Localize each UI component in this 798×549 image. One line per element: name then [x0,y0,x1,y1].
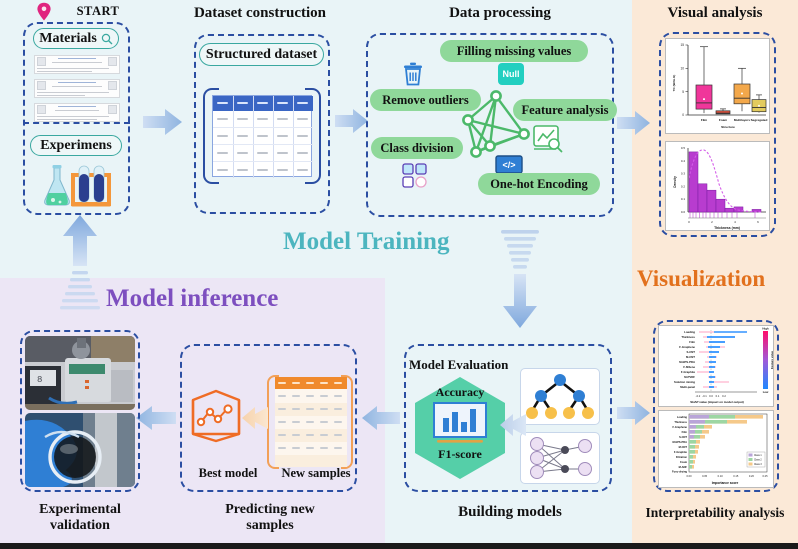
svg-text:Segregated: Segregated [751,118,768,122]
svg-text:Thickness (mm): Thickness (mm) [714,226,740,230]
experimental-validation-caption: Experimental validation [18,502,142,533]
svg-text:0.1: 0.1 [681,197,686,201]
pill-label: Feature analysis [522,103,609,118]
pill-remove-outliers[interactable]: Remove outliers [370,89,481,111]
svg-text:TC (W/m.K): TC (W/m.K) [672,75,676,92]
magnifier-icon [101,33,113,45]
svg-text:Foam: Foam [680,460,688,464]
svg-text:Multilayers: Multilayers [734,118,750,122]
pill-one-hot-encoding[interactable]: One-hot Encoding [478,173,600,195]
svg-text:0.15: 0.15 [733,474,739,478]
new-samples-table [275,377,347,467]
svg-text:F-Graphite: F-Graphite [674,450,688,454]
pill-label: Filling missing values [457,44,572,59]
arrow-samples-to-model [242,405,268,431]
arrow-models-to-evaluation [500,412,526,438]
svg-text:15: 15 [680,43,684,47]
svg-text:0.20: 0.20 [749,474,755,478]
svg-text:M-PVDF: M-PVDF [684,375,695,379]
pill-filling-missing-values[interactable]: Filling missing values [440,40,588,62]
structured-dataset-label: Structured dataset [206,47,317,63]
shap-beeswarm-plot: LoadingThickness FilmF-Graphene S-CNTM-C… [658,325,774,407]
chart-search-icon [533,125,563,153]
flask-test-tube-icon [38,160,114,210]
svg-text:SHAP value (impact on model ou: SHAP value (impact on model output) [690,400,744,404]
stage-word-inference: Model inference [106,285,278,313]
svg-text:Loading: Loading [677,415,688,419]
svg-text:5: 5 [682,90,684,94]
svg-text:M-EPS-PDA: M-EPS-PDA [679,360,695,364]
svg-text:Solution mixing: Solution mixing [674,380,695,384]
svg-text:0.00: 0.00 [686,474,692,478]
instrument-photo: 8 [25,336,135,410]
materials-label: Materials [39,31,97,47]
svg-text:0.1: 0.1 [716,394,720,398]
svg-text:F-Graphene: F-Graphene [672,425,687,429]
best-model-label: Best model [185,466,271,480]
svg-text:Thickness: Thickness [681,335,695,339]
arrow-models-to-predicting [362,405,400,431]
svg-text:Foam: Foam [719,118,728,122]
pill-label: One-hot Encoding [490,177,588,192]
histogram-thickness-density: 0.00.1 0.20.3 0.40.5 [665,141,770,231]
predicting-caption: Predicting new samples [190,502,350,533]
validation-caption-line2: validation [50,518,110,533]
decision-tree-icon [520,368,600,425]
svg-text:-0.2: -0.2 [696,394,701,398]
svg-text:Filtration: Filtration [676,455,688,459]
svg-text:0.3: 0.3 [681,172,686,176]
svg-text:M-ANF: M-ANF [679,465,688,469]
svg-text:0.10: 0.10 [718,474,724,478]
svg-text:M-CNT: M-CNT [679,445,688,449]
svg-text:Multi-panel: Multi-panel [680,385,695,389]
svg-text:2: 2 [711,220,713,224]
svg-text:-0.1: -0.1 [702,394,707,398]
metric-accuracy-label: Accuracy [412,386,508,399]
predicting-caption-line2: samples [246,518,293,533]
svg-text:F-MXene: F-MXene [683,365,695,369]
svg-text:Film: Film [682,430,688,434]
data-processing-caption: Data processing [400,5,600,22]
svg-text:0.25: 0.25 [762,474,768,478]
gloved-hands-petri-dish-photo [25,413,135,487]
pill-class-division[interactable]: Class division [371,137,463,159]
structured-dataset-pill[interactable]: Structured dataset [199,43,324,66]
boxplot-structure-vs-tc: 05 1015 [665,38,770,134]
svg-text:0: 0 [688,220,690,224]
svg-text:0: 0 [682,113,684,117]
svg-text:Class 3: Class 3 [754,464,762,466]
svg-text:Func-drying: Func-drying [672,470,687,474]
bottom-rule [0,543,798,549]
svg-text:</>: </> [502,160,515,170]
grid-squares-icon [402,163,428,189]
trash-bin-icon [402,62,424,86]
svg-text:4: 4 [734,220,736,224]
null-badge-label: Null [503,69,520,79]
svg-text:Density: Density [673,176,677,188]
neural-network-icon [520,432,600,484]
metric-f1-label: F1-score [412,448,508,461]
predicting-caption-line1: Predicting new [225,502,315,517]
experiments-pill[interactable]: Experimens [30,135,122,156]
pill-feature-analysis[interactable]: Feature analysis [513,99,617,121]
model-box-icon [190,388,242,444]
svg-text:0.2: 0.2 [681,184,686,188]
svg-text:Structure: Structure [721,125,735,129]
materials-panel-divider [23,122,130,124]
location-pin-icon [36,2,52,22]
svg-text:0.2: 0.2 [722,394,726,398]
svg-text:F-Graphite: F-Graphite [681,370,696,374]
arrow-inference-up [58,214,102,312]
svg-text:0.5: 0.5 [681,146,686,150]
svg-text:F-Graphene: F-Graphene [679,345,695,349]
start-label: START [58,4,138,18]
arrow-materials-to-dataset [143,108,183,136]
bar-chart-icon [433,402,487,444]
structured-dataset-table [212,95,312,177]
dataset-construction-caption: Dataset construction [170,5,350,22]
svg-text:S-CNT: S-CNT [679,435,687,439]
svg-text:10: 10 [680,67,684,71]
null-badge-icon: Null [498,63,524,85]
stage-word-training: Model Training [283,228,449,256]
svg-text:8: 8 [37,375,42,385]
svg-text:6: 6 [757,220,759,224]
svg-text:Film: Film [701,118,708,122]
arrow-processing-to-visual [617,110,651,136]
svg-text:High: High [762,327,769,331]
svg-text:Loading: Loading [684,330,695,334]
svg-text:0.4: 0.4 [681,159,686,163]
arrow-dataset-to-processing [335,108,369,134]
materials-pill[interactable]: Materials [33,28,119,49]
svg-text:Thickness: Thickness [674,420,687,424]
svg-text:0.05: 0.05 [702,474,708,478]
stage-word-visualization: Visualization [637,266,765,292]
building-models-caption: Building models [420,504,600,521]
svg-text:0.0: 0.0 [709,394,713,398]
interpretability-caption: Interpretability analysis [632,505,798,520]
svg-text:S-CNT: S-CNT [686,350,695,354]
workflow-diagram: START Materials Experimens [0,0,798,549]
feature-importance-plot: LoadingThickness F-GrapheneFilm S-CNTM-E… [658,410,774,488]
visual-analysis-caption: Visual analysis [637,5,793,22]
svg-text:Class 2: Class 2 [754,460,762,462]
arrow-models-to-interpretability [617,400,651,426]
experiments-label: Experimens [40,138,112,154]
arrow-training-down [497,228,543,333]
svg-text:Feature value: Feature value [770,351,774,369]
pill-label: Class division [380,141,453,156]
svg-text:M-CNT: M-CNT [686,355,695,359]
svg-text:0.0: 0.0 [681,210,686,214]
svg-text:M-EPS-PDA: M-EPS-PDA [672,440,687,444]
svg-text:Film: Film [689,340,695,344]
validation-caption-line1: Experimental [39,502,121,517]
svg-text:Class 1: Class 1 [754,455,762,457]
arrow-predicting-to-validation [136,405,176,431]
svg-text:Low: Low [763,390,769,394]
pill-label: Remove outliers [382,93,468,108]
svg-text:Importance score: Importance score [712,481,739,485]
